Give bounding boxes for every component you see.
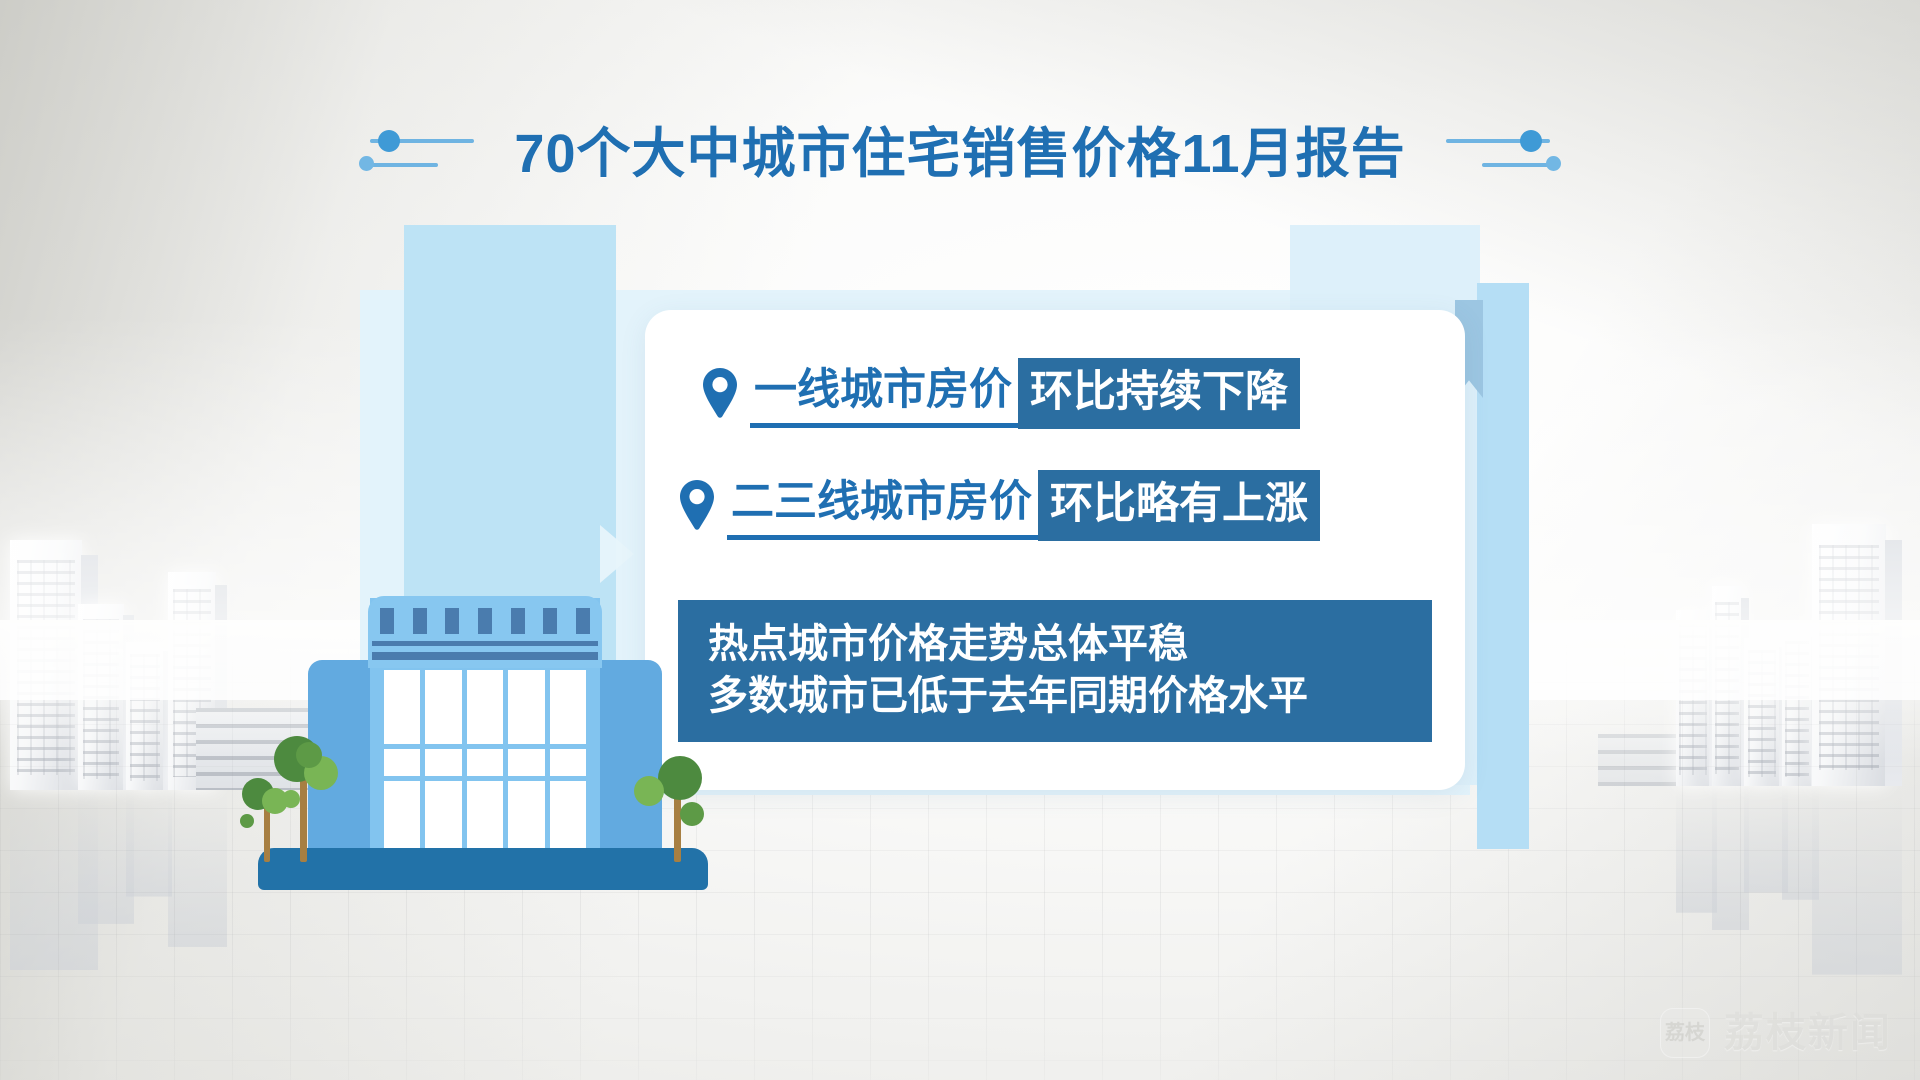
bullet-row-2: 二三线城市房价 环比略有上涨 (677, 470, 1320, 541)
building-band-lower (372, 652, 598, 660)
building-roof-vents (380, 608, 590, 634)
content-card: 一线城市房价 环比持续下降 二三线城市房价 环比略有上涨 热点城市价格走势总体平… (645, 310, 1465, 790)
building-window-grid (384, 670, 586, 848)
page-title: 70个大中城市住宅销售价格11月报告 (514, 127, 1405, 181)
bullet-row-1: 一线城市房价 环比持续下降 (700, 358, 1300, 429)
tree-illustration (628, 752, 738, 862)
bullet-lead-2: 二三线城市房价 (727, 472, 1038, 540)
logo-mark-text: 荔枝 (1665, 1023, 1705, 1043)
summary-block: 热点城市价格走势总体平稳 多数城市已低于去年同期价格水平 (678, 600, 1432, 742)
infographic-canvas: 70个大中城市住宅销售价格11月报告 一线城市房价 环比持续下降 (0, 0, 1920, 1080)
panel-backdrop-column-right (1477, 283, 1529, 849)
office-building-illustration (250, 560, 720, 890)
summary-line-1: 热点城市价格走势总体平稳 (678, 618, 1432, 670)
line-dot-decor-left-icon (332, 125, 492, 183)
line-dot-decor-right-icon (1428, 125, 1588, 183)
summary-line-2: 多数城市已低于去年同期价格水平 (678, 670, 1432, 722)
location-pin-icon (700, 366, 740, 422)
brand-logo: 荔枝 荔枝新闻 (1660, 1008, 1892, 1058)
building-band-upper (372, 641, 598, 646)
bullet-tag-2: 环比略有上涨 (1038, 470, 1320, 541)
tree-illustration (238, 742, 368, 862)
logo-text: 荔枝新闻 (1724, 1013, 1892, 1053)
logo-mark-icon: 荔枝 (1660, 1008, 1710, 1058)
page-title-row: 70个大中城市住宅销售价格11月报告 (0, 118, 1920, 190)
location-pin-icon (677, 478, 717, 534)
bullet-tag-1: 环比持续下降 (1018, 358, 1300, 429)
bullet-lead-1: 一线城市房价 (750, 360, 1018, 428)
